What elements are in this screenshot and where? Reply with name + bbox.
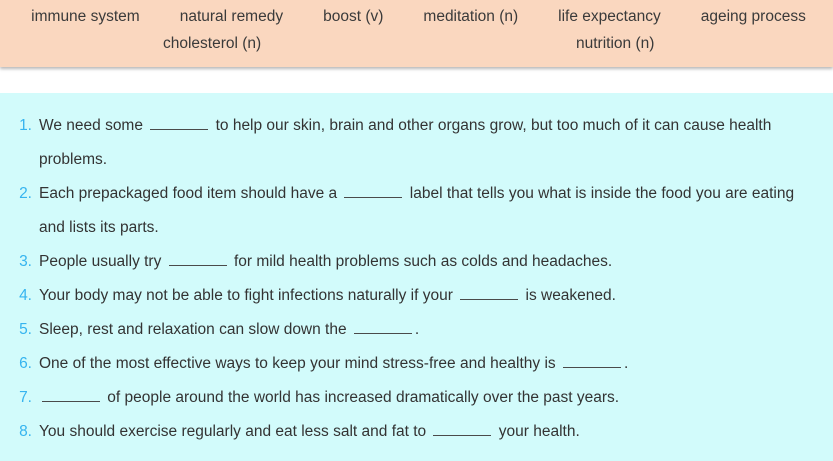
question-item: 1.We need some to help our skin, brain a… xyxy=(10,109,823,177)
question-item: 5.Sleep, rest and relaxation can slow do… xyxy=(10,313,823,347)
question-text: Your body may not be able to fight infec… xyxy=(39,279,817,313)
exercise-panel: 1.We need some to help our skin, brain a… xyxy=(0,93,833,461)
question-text-segment: your health. xyxy=(494,423,579,440)
answer-blank[interactable] xyxy=(460,284,518,300)
question-item: 2.Each prepackaged food item should have… xyxy=(10,177,823,245)
question-item: 6.One of the most effective ways to keep… xyxy=(10,347,823,381)
word-bank-row-1: immune system natural remedy boost (v) m… xyxy=(0,6,833,28)
question-text-segment: is weakened. xyxy=(521,287,616,304)
question-number: 3. xyxy=(10,245,39,279)
question-text-segment: People usually try xyxy=(39,253,166,270)
question-text-segment: Your body may not be able to fight infec… xyxy=(39,287,457,304)
question-text: You should exercise regularly and eat le… xyxy=(39,415,817,449)
question-item: 3.People usually try for mild health pro… xyxy=(10,245,823,279)
question-text: Each prepackaged food item should have a… xyxy=(39,177,817,245)
question-text: One of the most effective ways to keep y… xyxy=(39,347,817,381)
question-text-segment: Sleep, rest and relaxation can slow down… xyxy=(39,321,351,338)
answer-blank[interactable] xyxy=(433,420,491,436)
word-bank-term-life-expectancy[interactable]: life expectancy xyxy=(558,6,661,28)
answer-blank[interactable] xyxy=(563,352,621,368)
word-bank-term-boost[interactable]: boost (v) xyxy=(323,6,383,28)
question-text-segment: . xyxy=(415,321,419,338)
word-bank-term-immune-system[interactable]: immune system xyxy=(31,6,140,28)
question-text-segment: to help our skin, brain and other organs… xyxy=(39,117,771,168)
word-bank-panel: immune system natural remedy boost (v) m… xyxy=(0,0,833,67)
question-text-segment: for mild health problems such as colds a… xyxy=(230,253,613,270)
word-bank-term-ageing-process[interactable]: ageing process xyxy=(701,6,806,28)
question-text-segment: . xyxy=(624,355,628,372)
question-list: 1.We need some to help our skin, brain a… xyxy=(10,109,823,449)
question-text-segment: You should exercise regularly and eat le… xyxy=(39,423,430,440)
word-bank-term-natural-remedy[interactable]: natural remedy xyxy=(180,6,283,28)
question-text: We need some to help our skin, brain and… xyxy=(39,109,817,177)
question-item: 8.You should exercise regularly and eat … xyxy=(10,415,823,449)
word-bank-term-cholesterol[interactable]: cholesterol (n) xyxy=(163,33,261,55)
word-bank-row-2: cholesterol (n) nutrition (n) xyxy=(0,33,833,55)
question-text-segment: Each prepackaged food item should have a xyxy=(39,185,341,202)
question-text: of people around the world has increased… xyxy=(39,381,817,415)
question-number: 8. xyxy=(10,415,39,449)
question-text-segment: One of the most effective ways to keep y… xyxy=(39,355,560,372)
question-number: 6. xyxy=(10,347,39,381)
word-bank-term-meditation[interactable]: meditation (n) xyxy=(423,6,518,28)
question-text-segment: of people around the world has increased… xyxy=(103,389,619,406)
question-text: Sleep, rest and relaxation can slow down… xyxy=(39,313,817,347)
question-number: 7. xyxy=(10,381,39,415)
answer-blank[interactable] xyxy=(169,250,227,266)
answer-blank[interactable] xyxy=(150,114,208,130)
question-item: 7. of people around the world has increa… xyxy=(10,381,823,415)
question-number: 4. xyxy=(10,279,39,313)
question-text: People usually try for mild health probl… xyxy=(39,245,817,279)
question-number: 5. xyxy=(10,313,39,347)
word-bank-term-nutrition[interactable]: nutrition (n) xyxy=(576,33,654,55)
question-item: 4.Your body may not be able to fight inf… xyxy=(10,279,823,313)
question-number: 2. xyxy=(10,177,39,211)
answer-blank[interactable] xyxy=(344,182,402,198)
worksheet-page: immune system natural remedy boost (v) m… xyxy=(0,0,833,461)
question-number: 1. xyxy=(10,109,39,143)
answer-blank[interactable] xyxy=(354,318,412,334)
answer-blank[interactable] xyxy=(42,386,100,402)
question-text-segment: We need some xyxy=(39,117,147,134)
